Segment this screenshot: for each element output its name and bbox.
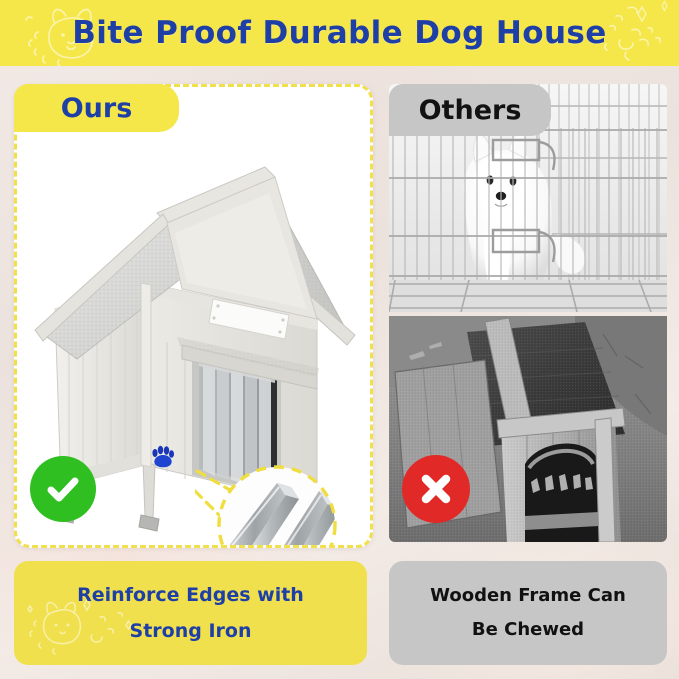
others-caption: Wooden Frame Can Be Chewed	[389, 561, 667, 665]
others-label-text: Others	[419, 95, 522, 126]
angle-iron-reinforcement-closeup	[195, 465, 365, 548]
ours-label-text: Ours	[61, 93, 133, 124]
others-caption-line-1: Wooden Frame Can	[430, 579, 626, 613]
status-badge-check	[30, 456, 96, 522]
page-title: Bite Proof Durable Dog House	[0, 0, 679, 66]
cross-icon	[414, 467, 458, 511]
ours-caption: Reinforce Edges with Strong Iron	[14, 561, 367, 665]
blue-paw-print-marker-icon	[147, 444, 177, 474]
check-icon	[41, 467, 85, 511]
others-label-badge: Others	[389, 84, 551, 136]
others-caption-line-2: Be Chewed	[472, 613, 584, 647]
ours-caption-line-1: Reinforce Edges with	[77, 577, 304, 613]
header-banner: Bite Proof Durable Dog House	[0, 0, 679, 66]
infographic-canvas: Bite Proof Durable Dog House	[0, 0, 679, 679]
ours-label-badge: Ours	[14, 84, 179, 132]
status-badge-cross	[402, 455, 470, 523]
ours-caption-line-2: Strong Iron	[130, 613, 252, 649]
